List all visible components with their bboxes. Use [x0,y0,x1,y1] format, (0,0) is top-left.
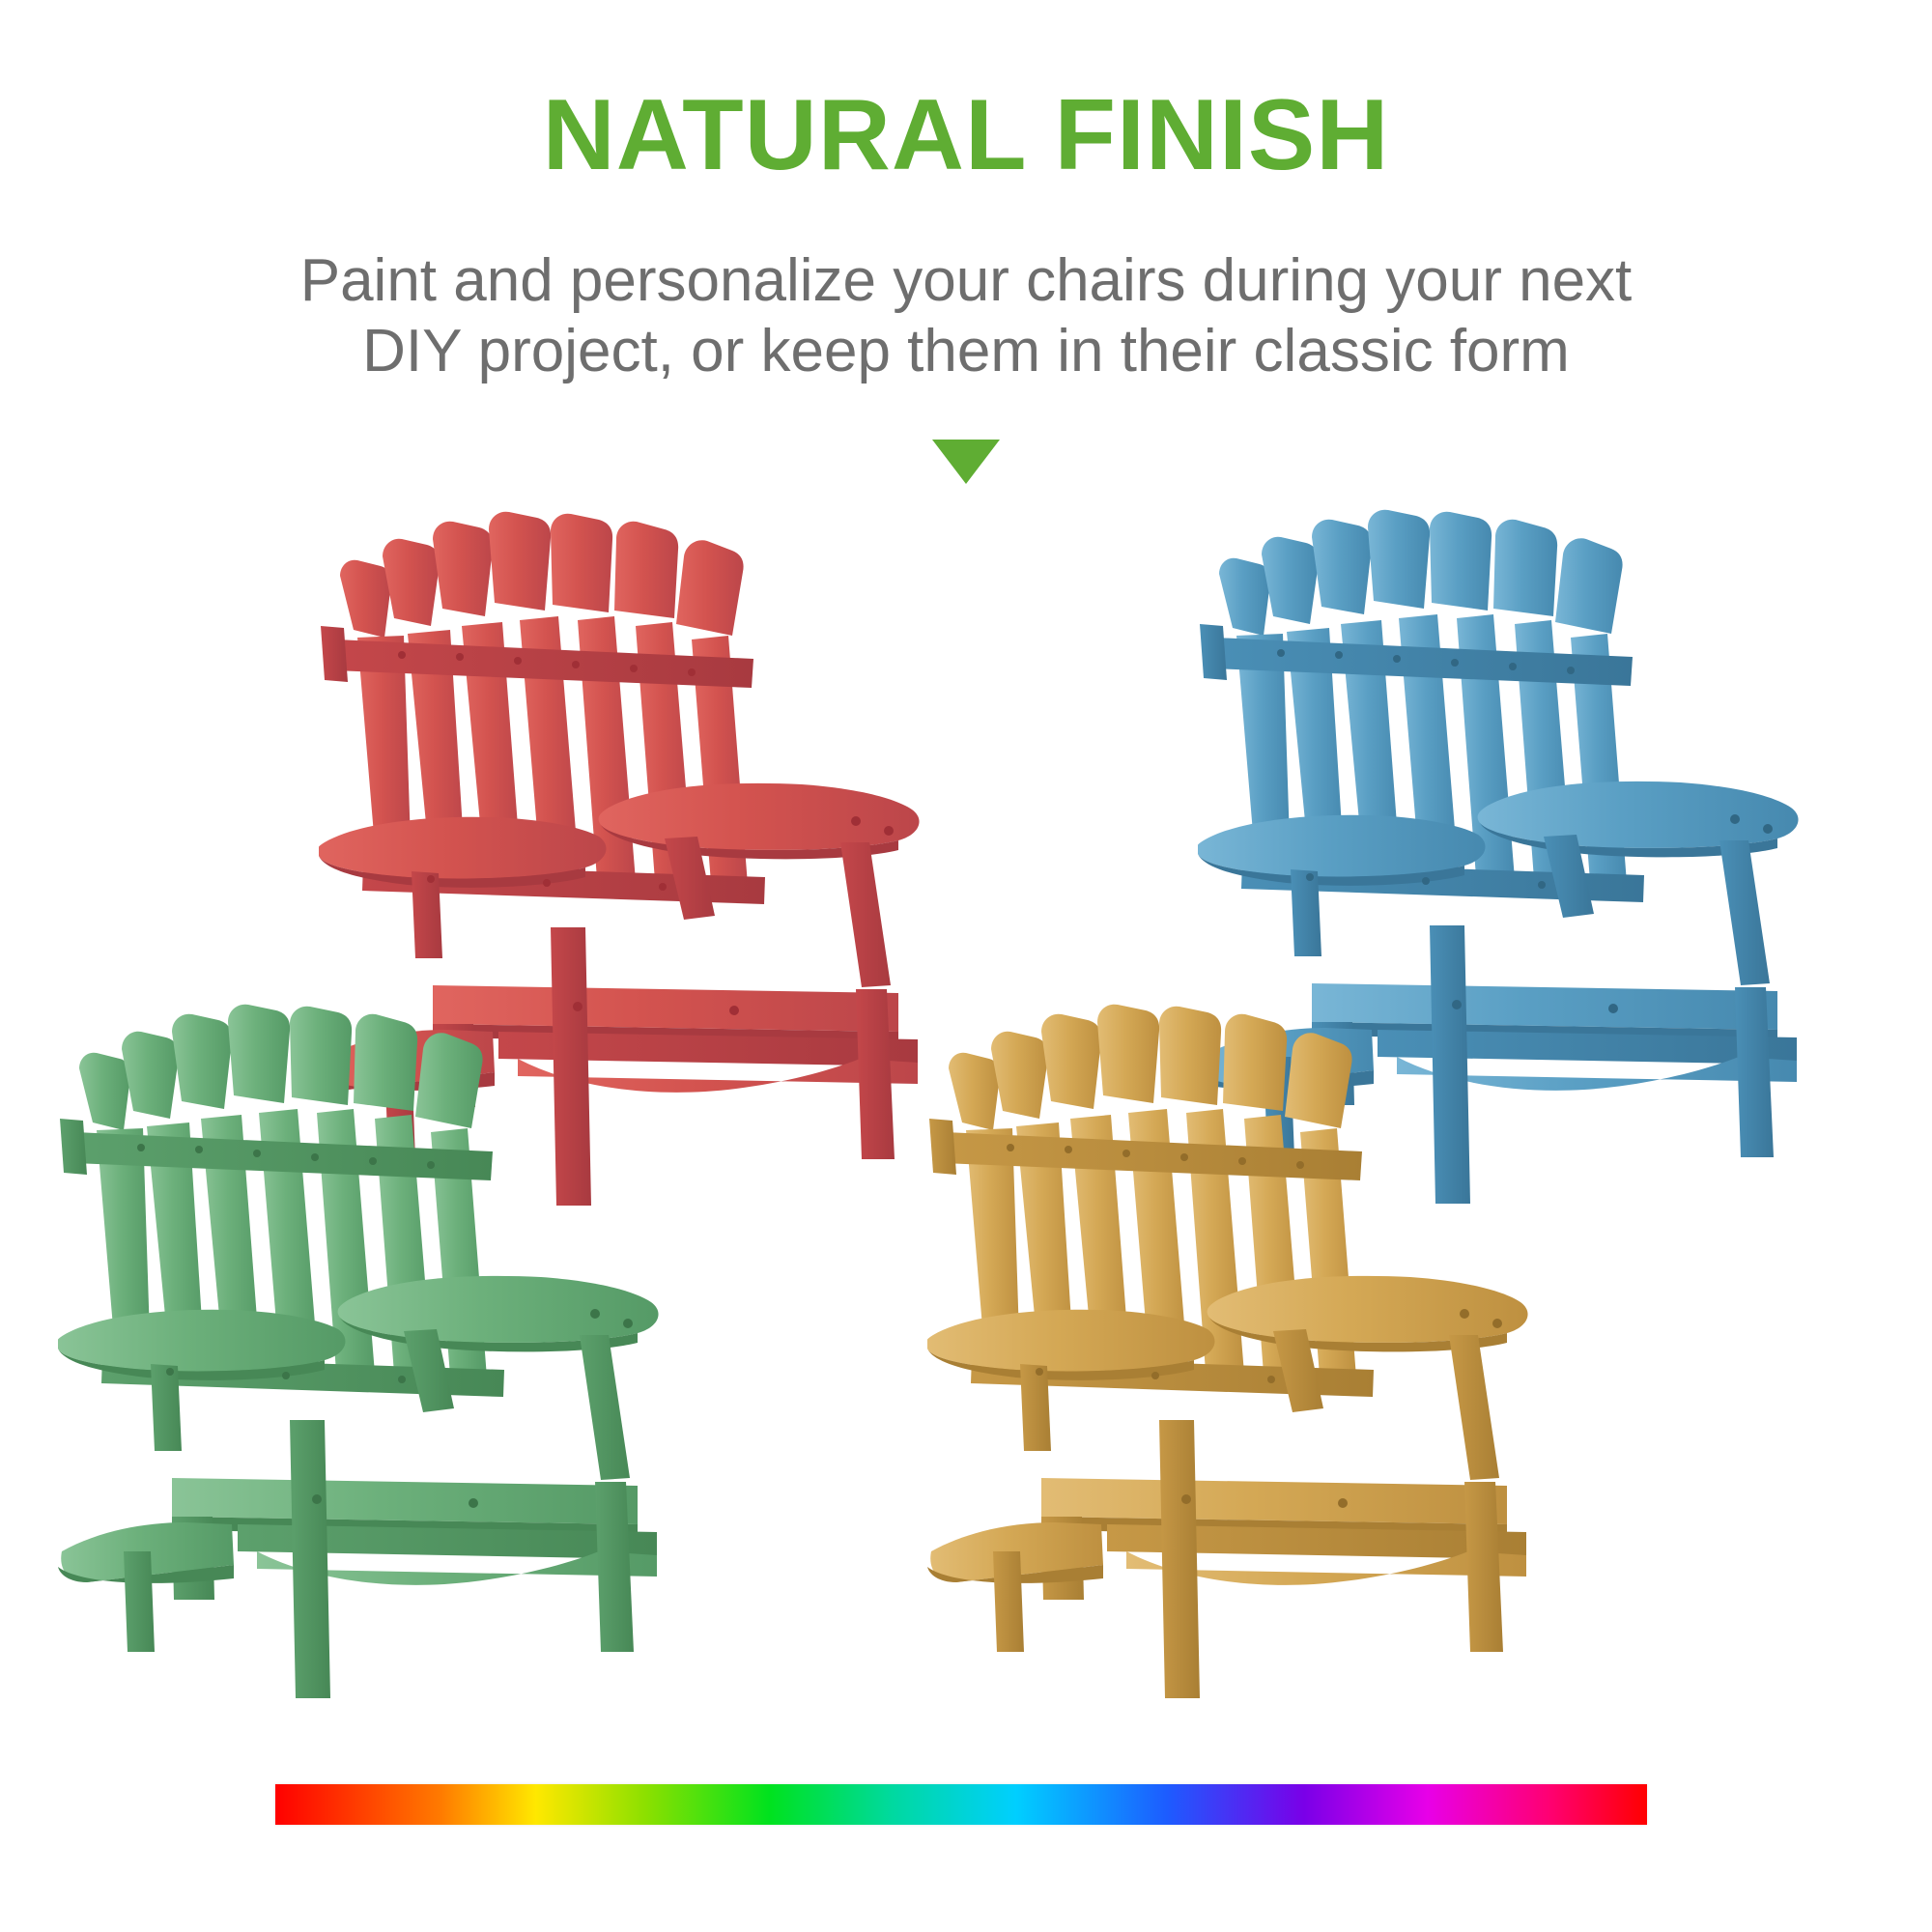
chair-seat-frame [1041,1478,1526,1585]
color-spectrum-bar [275,1784,1647,1825]
chair-arm-support-post-left [151,1364,182,1451]
chair-arm-support-post-right [404,1329,630,1480]
product-image-chair-natural [927,976,1565,1710]
chair-arm-support-post-right [1273,1329,1499,1480]
chair-armrest-left [58,1310,346,1380]
chair-armrest-left [1198,815,1486,886]
chair-armrest-right [338,1276,659,1352]
page-title: NATURAL FINISH [0,85,1932,185]
chair-armrest-left [319,817,607,888]
chair-armrest-right [1478,781,1799,858]
chair-arm-support-post-right [665,837,891,987]
chair-armrest-left [927,1310,1215,1380]
chair-arm-support-post-right [1544,835,1770,985]
chair-seat-frame [172,1478,657,1585]
subtitle-line-1: Paint and personalize your chairs during… [116,246,1816,317]
chair-arm-support-post-left [1020,1364,1051,1451]
subtitle-line-2: DIY project, or keep them in their class… [116,317,1816,387]
promo-card: NATURAL FINISH Paint and personalize you… [0,0,1932,1932]
product-image-chair-green [58,976,696,1710]
subtitle: Paint and personalize your chairs during… [116,246,1816,386]
chair-arm-support-post-left [412,871,442,958]
chair-armrest-right [1207,1276,1528,1352]
chair-armrest-right [599,783,920,860]
chair-arm-support-post-left [1291,869,1321,956]
triangle-down-icon [932,440,1000,484]
